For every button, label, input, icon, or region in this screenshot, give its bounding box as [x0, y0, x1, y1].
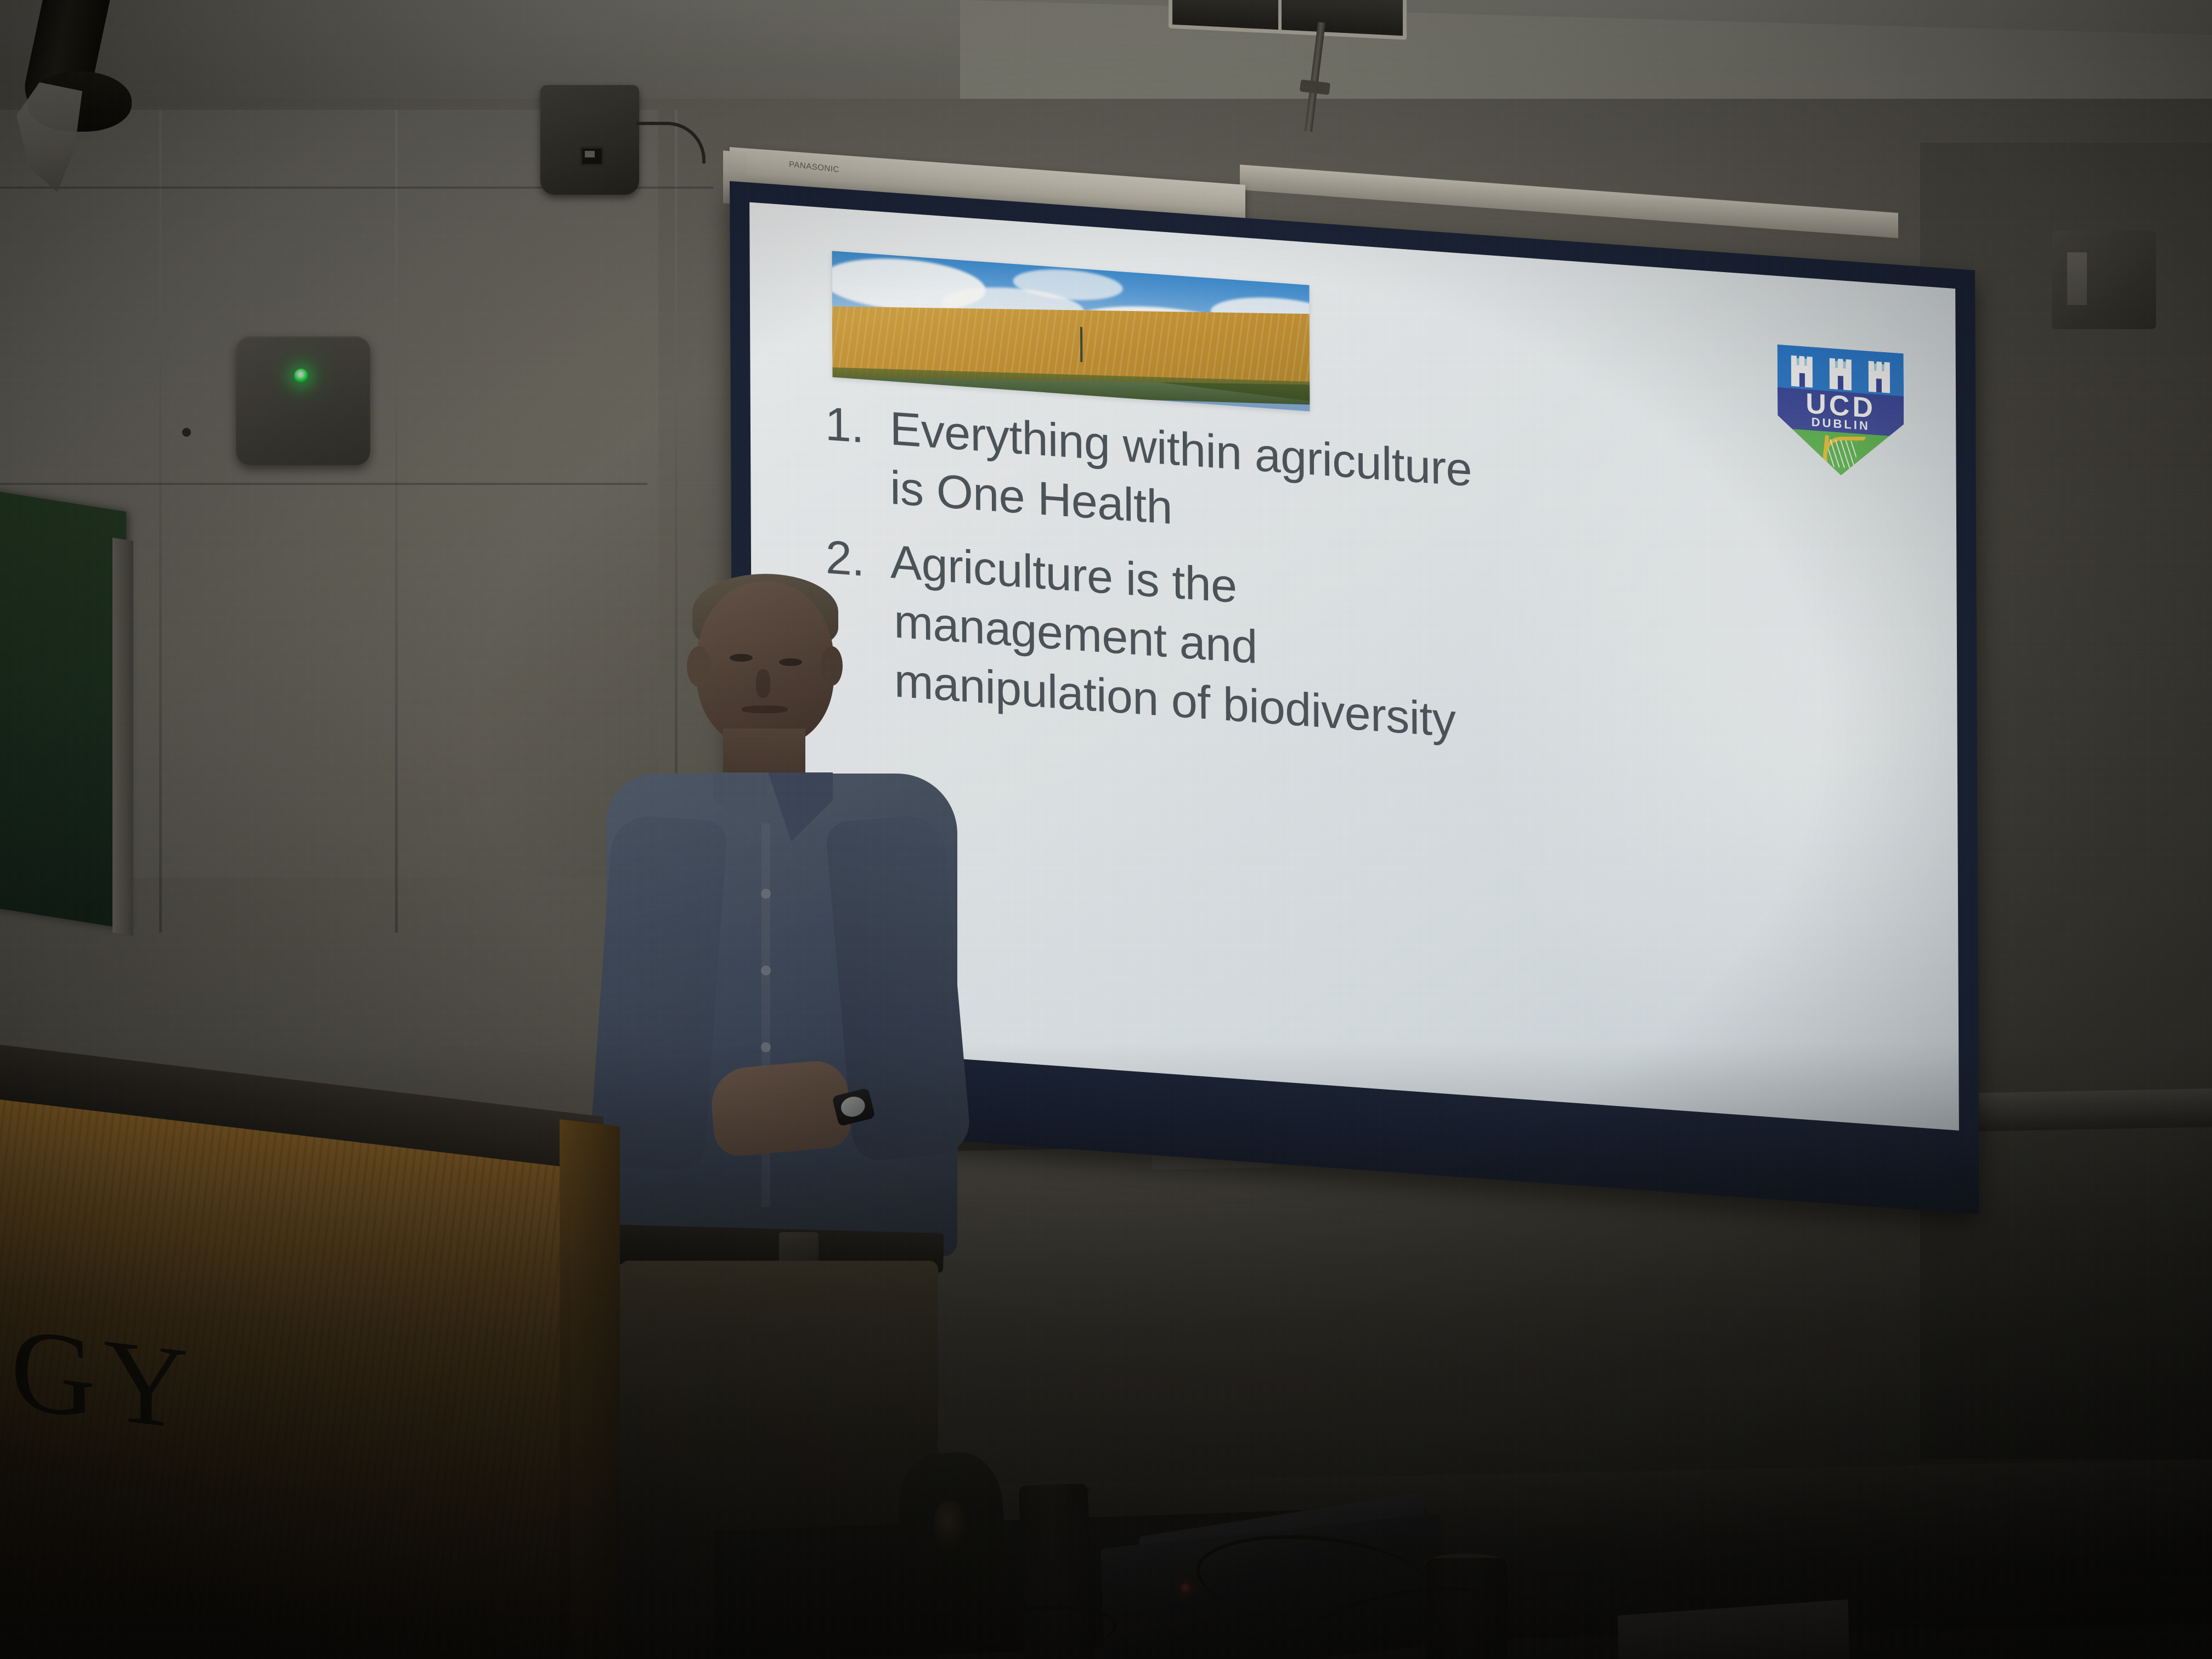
wall-sensor-housing	[236, 336, 370, 465]
chalkboard-frame	[112, 538, 133, 936]
wall-speaker	[540, 85, 639, 195]
castle-icon	[1830, 367, 1851, 390]
room-shadow	[0, 1042, 2212, 1659]
presenter-mouth	[742, 706, 788, 713]
presenter-ear	[821, 646, 843, 686]
right-wall-fixture	[2052, 230, 2156, 329]
presenter-head	[697, 582, 834, 746]
wall-seam	[0, 483, 647, 485]
wall-seam	[159, 110, 162, 933]
wall-screw	[182, 428, 191, 437]
presenter-nose	[756, 669, 770, 698]
vent-grill-divider	[1278, 0, 1282, 30]
ucd-logo: UCD DUBLIN	[1778, 345, 1904, 480]
lecture-hall-photo: PANASONIC	[0, 0, 2212, 1659]
photo-pole	[1080, 327, 1082, 362]
slide-field-photo	[832, 251, 1310, 411]
speaker-port-icon	[580, 146, 604, 166]
wall-seam	[395, 110, 398, 933]
presenter-ear	[687, 646, 711, 687]
harp-strings-icon	[1828, 439, 1856, 469]
green-chalkboard	[0, 488, 126, 929]
castle-icon	[1791, 364, 1813, 387]
presenter-shirt-button	[761, 889, 771, 899]
castle-icon	[1868, 370, 1889, 393]
sensor-status-led-icon	[294, 369, 308, 383]
presenter-shirt-button	[761, 966, 771, 975]
presenter-eye	[730, 654, 753, 662]
ucd-shield-icon: UCD DUBLIN	[1778, 345, 1904, 480]
bullet-number: 1.	[816, 393, 890, 517]
presenter-eye	[779, 658, 802, 666]
